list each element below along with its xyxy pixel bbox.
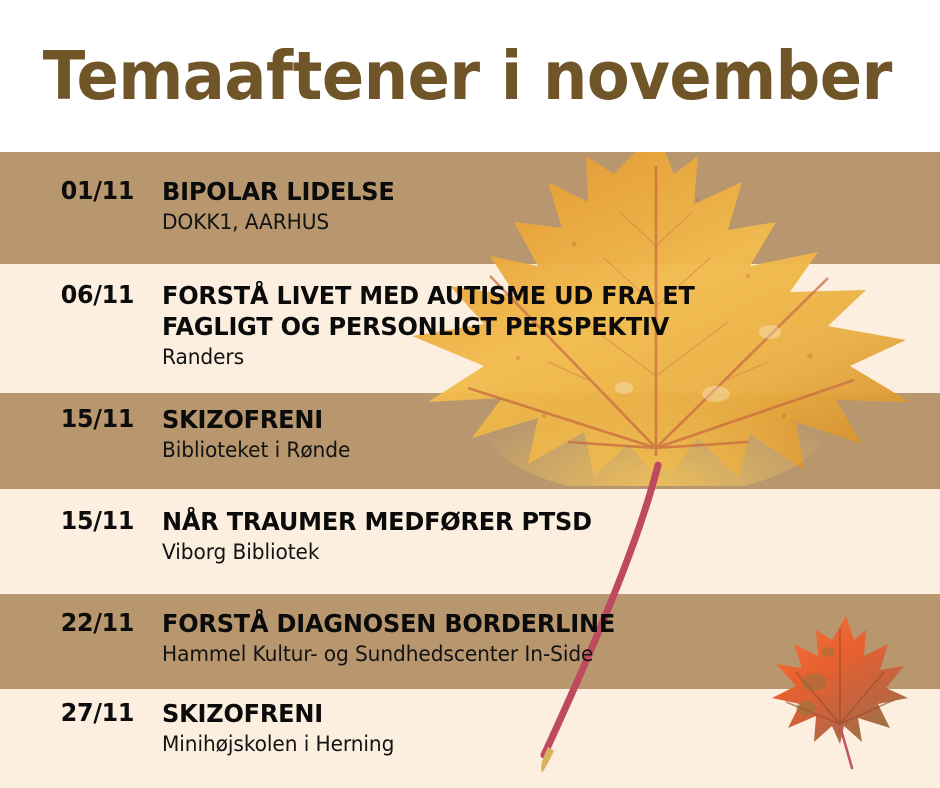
event-date: 27/11 xyxy=(0,698,152,728)
event-row[interactable]: 27/11SKIZOFRENIMinihøjskolen i Herning xyxy=(0,698,940,758)
event-title: SKIZOFRENI xyxy=(162,698,909,729)
event-venue: Viborg Bibliotek xyxy=(162,538,909,566)
event-title: SKIZOFRENI xyxy=(162,404,909,435)
event-row[interactable]: 15/11SKIZOFRENIBiblioteket i Rønde xyxy=(0,404,940,464)
event-poster: 01/11BIPOLAR LIDELSEDOKK1, AARHUS06/11FO… xyxy=(0,0,940,788)
event-venue: Hammel Kultur- og Sundhedscenter In-Side xyxy=(162,640,909,668)
event-date: 22/11 xyxy=(0,608,152,638)
event-row[interactable]: 22/11FORSTÅ DIAGNOSEN BORDERLINEHammel K… xyxy=(0,608,940,668)
event-details: FORSTÅ LIVET MED AUTISME UD FRA ET FAGLI… xyxy=(160,280,940,371)
event-row[interactable]: 01/11BIPOLAR LIDELSEDOKK1, AARHUS xyxy=(0,176,940,236)
event-details: BIPOLAR LIDELSEDOKK1, AARHUS xyxy=(160,176,940,236)
event-details: SKIZOFRENIBiblioteket i Rønde xyxy=(160,404,940,464)
page-title: Temaaftener i november xyxy=(0,43,892,110)
title-bar: Temaaftener i november xyxy=(0,0,940,152)
event-date: 06/11 xyxy=(0,280,152,310)
event-title: FORSTÅ LIVET MED AUTISME UD FRA ET FAGLI… xyxy=(162,280,909,342)
event-venue: DOKK1, AARHUS xyxy=(162,208,909,236)
event-details: FORSTÅ DIAGNOSEN BORDERLINEHammel Kultur… xyxy=(160,608,940,668)
event-row[interactable]: 15/11NÅR TRAUMER MEDFØRER PTSDViborg Bib… xyxy=(0,506,940,566)
event-title: NÅR TRAUMER MEDFØRER PTSD xyxy=(162,506,909,537)
event-venue: Biblioteket i Rønde xyxy=(162,436,909,464)
event-date: 15/11 xyxy=(0,506,152,536)
event-title: BIPOLAR LIDELSE xyxy=(162,176,909,207)
event-date: 01/11 xyxy=(0,176,152,206)
event-venue: Minihøjskolen i Herning xyxy=(162,730,909,758)
event-title: FORSTÅ DIAGNOSEN BORDERLINE xyxy=(162,608,909,639)
event-details: NÅR TRAUMER MEDFØRER PTSDViborg Bibliote… xyxy=(160,506,940,566)
event-venue: Randers xyxy=(162,343,909,371)
event-details: SKIZOFRENIMinihøjskolen i Herning xyxy=(160,698,940,758)
event-row[interactable]: 06/11FORSTÅ LIVET MED AUTISME UD FRA ET … xyxy=(0,280,940,371)
event-date: 15/11 xyxy=(0,404,152,434)
